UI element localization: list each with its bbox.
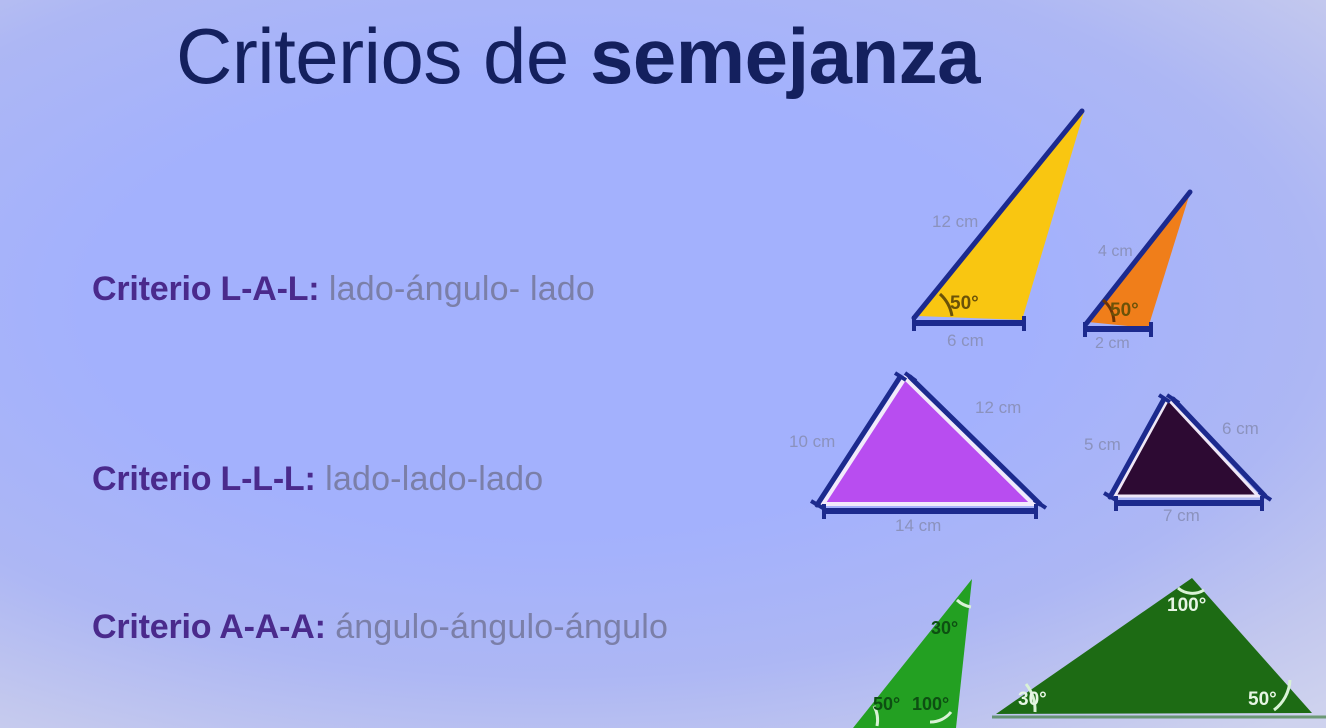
violet-base-label: 14 cm: [895, 516, 941, 535]
small-green-left-angle-label: 50°: [873, 694, 900, 714]
yellow-angle-label: 50°: [950, 293, 979, 314]
triangles-diagram: 50° 12 cm 6 cm 50° 4 cm 2 cm: [0, 0, 1326, 728]
large-green-top-angle-label: 100°: [1167, 595, 1206, 616]
yellow-hypotenuse-label: 12 cm: [932, 212, 978, 231]
figure-lal-yellow-triangle: 50° 12 cm 6 cm: [914, 111, 1084, 350]
orange-hypotenuse-label: 4 cm: [1098, 243, 1133, 260]
darkpurple-base-label: 7 cm: [1163, 506, 1200, 525]
small-green-top-angle-label: 30°: [931, 618, 958, 638]
violet-right-label: 12 cm: [975, 398, 1021, 417]
figure-aaa-large-green-triangle: 100° 30° 50°: [992, 578, 1326, 717]
figure-lll-violet-triangle: 10 cm 12 cm 14 cm: [789, 373, 1046, 535]
violet-left-label: 10 cm: [789, 432, 835, 451]
figure-lll-darkpurple-triangle: 5 cm 6 cm 7 cm: [1084, 395, 1271, 525]
darkpurple-right-label: 6 cm: [1222, 419, 1259, 438]
slide-canvas: Criterios de semejanza Criterio L-A-L: l…: [0, 0, 1326, 728]
yellow-base-label: 6 cm: [947, 331, 984, 350]
large-green-left-angle-label: 30°: [1018, 689, 1047, 710]
orange-angle-label: 50°: [1110, 300, 1139, 321]
small-green-right-angle-label: 100°: [912, 694, 949, 714]
darkpurple-left-label: 5 cm: [1084, 435, 1121, 454]
figure-aaa-small-green-triangle: 30° 50° 100°: [853, 579, 972, 728]
figure-lal-orange-triangle: 50° 4 cm 2 cm: [1085, 192, 1190, 352]
large-green-right-angle-label: 50°: [1248, 689, 1277, 710]
orange-base-label: 2 cm: [1095, 335, 1130, 352]
